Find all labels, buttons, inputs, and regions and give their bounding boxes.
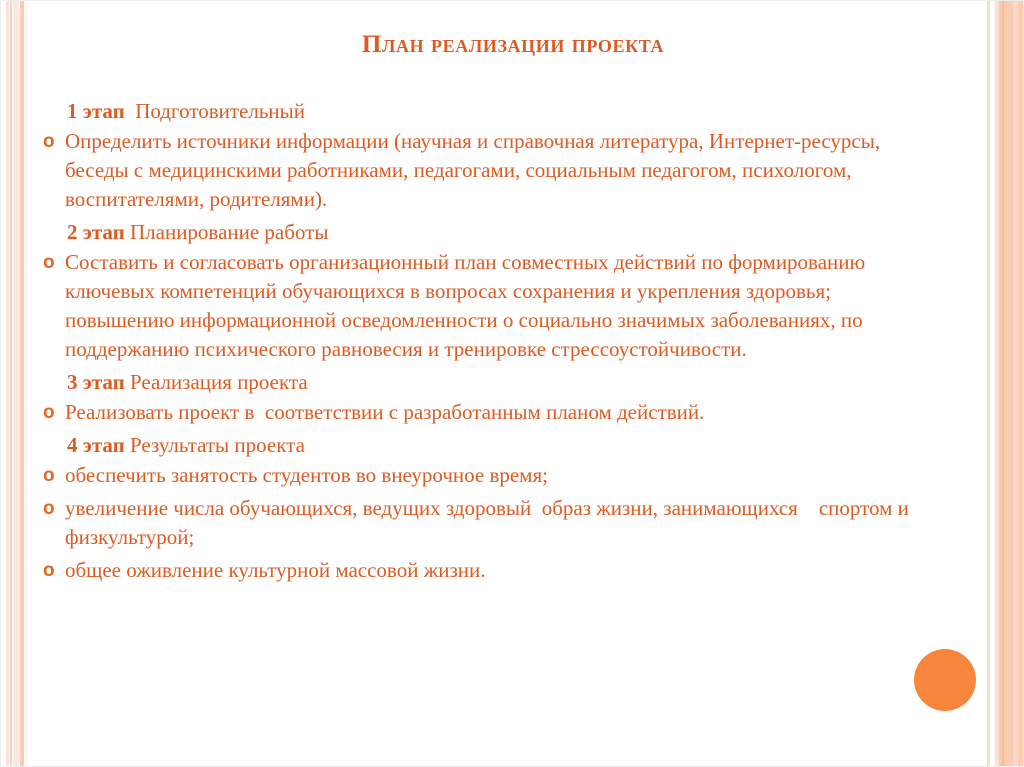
right-stripe-2 xyxy=(995,1,999,766)
stage-block-4: 4 этап Результаты проекта o обеспечить з… xyxy=(37,431,932,585)
stage-heading-3: 3 этап Реализация проекта xyxy=(67,368,932,396)
stage-heading-4: 4 этап Результаты проекта xyxy=(67,431,932,459)
bullet-ring-icon: o xyxy=(37,398,65,427)
left-stripe-3 xyxy=(13,1,19,766)
stage-number-1: 1 этап xyxy=(67,99,125,123)
stage-block-2: 2 этап Планирование работы o Составить и… xyxy=(37,218,932,364)
stage-heading-2: 2 этап Планирование работы xyxy=(67,218,932,246)
bullet-ring-icon: o xyxy=(37,494,65,523)
stage-block-3: 3 этап Реализация проекта o Реализовать … xyxy=(37,368,932,427)
list-item: o обеспечить занятость студентов во внеу… xyxy=(37,461,932,490)
list-item: o общее оживление культурной массовой жи… xyxy=(37,556,932,585)
bullet-text: увеличение числа обучающихся, ведущих зд… xyxy=(65,494,932,552)
right-stripe-7 xyxy=(1018,1,1024,766)
list-item: o увеличение числа обучающихся, ведущих … xyxy=(37,494,932,552)
bullet-ring-icon: o xyxy=(37,556,65,585)
bullet-text: Составить и согласовать организационный … xyxy=(65,248,932,364)
stage-heading-1: 1 этап Подготовительный xyxy=(67,97,932,125)
list-item: o Реализовать проект в соответствии с ра… xyxy=(37,398,932,427)
stage-number-3: 3 этап xyxy=(67,370,125,394)
left-stripe-2 xyxy=(10,1,12,766)
left-stripe-5 xyxy=(25,1,27,766)
stage-block-1: 1 этап Подготовительный o Определить ист… xyxy=(37,97,932,214)
right-stripe-6 xyxy=(1013,1,1018,766)
list-item: o Определить источники информации (научн… xyxy=(37,127,932,214)
corner-dot-decoration xyxy=(914,649,976,711)
stage-number-2: 2 этап xyxy=(67,220,125,244)
right-stripe-5 xyxy=(1004,1,1013,766)
stage-name-3: Реализация проекта xyxy=(125,370,308,394)
list-item: o Составить и согласовать организационны… xyxy=(37,248,932,364)
slide-body: 1 этап Подготовительный o Определить ист… xyxy=(37,97,932,589)
bullet-text: Реализовать проект в соответствии с разр… xyxy=(65,398,932,427)
right-stripe-1 xyxy=(987,1,990,766)
stage-name-2: Планирование работы xyxy=(125,220,329,244)
bullet-text: Определить источники информации (научная… xyxy=(65,127,932,214)
bullet-ring-icon: o xyxy=(37,127,65,156)
bullet-ring-icon: o xyxy=(37,461,65,490)
bullet-text: общее оживление культурной массовой жизн… xyxy=(65,556,932,585)
stage-number-4: 4 этап xyxy=(67,433,125,457)
stage-name-1: Подготовительный xyxy=(125,99,305,123)
slide-title: План реализации проекта xyxy=(1,31,1024,59)
bullet-text: обеспечить занятость студентов во внеуро… xyxy=(65,461,932,490)
right-stripe-3 xyxy=(999,1,1002,766)
stage-name-4: Результаты проекта xyxy=(125,433,305,457)
right-stripe-4 xyxy=(1002,1,1004,766)
presentation-slide: План реализации проекта 1 этап Подготови… xyxy=(0,0,1024,767)
left-stripe-1 xyxy=(6,1,9,766)
bullet-ring-icon: o xyxy=(37,248,65,277)
left-stripe-4 xyxy=(20,1,24,766)
